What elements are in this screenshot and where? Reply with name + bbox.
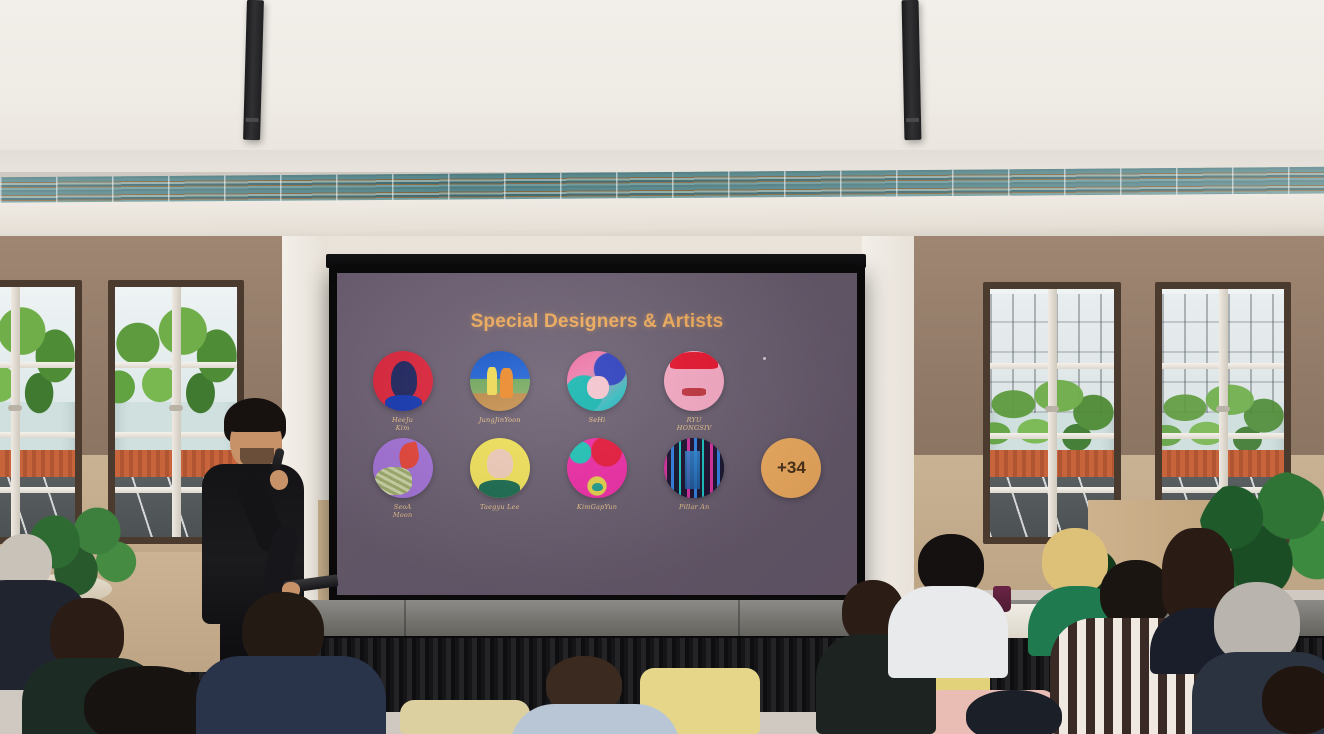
artist-avatar-pillar-an [664,438,724,498]
artist-name: Pillar An [679,503,709,511]
artist-cell[interactable]: Pillar An [659,438,730,519]
head [1262,666,1324,734]
pillar-right [862,236,914,636]
artist-avatar-seoa-moon [373,438,433,498]
artist-cell[interactable]: SeHi [561,351,632,432]
presenter-hair-front [226,406,284,432]
artist-cell[interactable]: HeeJu Kim [367,351,438,432]
presentation-room-photo: Special Designers & Artists HeeJu Kim Ju… [0,0,1324,734]
body [510,704,680,734]
artist-avatar-jungjinyoon [470,351,530,411]
artist-cell[interactable]: JungJinYoon [464,351,535,432]
artist-avatar-kimgapyun [567,438,627,498]
artist-name: HeeJu Kim [392,416,413,432]
artist-cell[interactable]: Taegyu Lee [464,438,535,519]
artist-name: SeoA Moon [393,503,412,519]
artist-cell-more[interactable]: +34 [756,438,827,519]
ceiling [0,0,1324,172]
artist-avatar-sehi [567,351,627,411]
projection-screen[interactable]: Special Designers & Artists HeeJu Kim Ju… [329,266,865,602]
artist-grid: HeeJu Kim JungJinYoon SeHi RYU HONGSIV [367,351,827,526]
artist-cell-spacer [756,351,827,432]
body [196,656,386,734]
artist-avatar-taegyu-lee [470,438,530,498]
artist-row: HeeJu Kim JungJinYoon SeHi RYU HONGSIV [367,351,827,432]
artist-cell[interactable]: RYU HONGSIV [659,351,730,432]
slide-title: Special Designers & Artists [337,311,857,333]
artist-name: JungJinYoon [479,416,521,424]
head [1042,528,1108,594]
chair [400,700,530,734]
ceiling-speaker-right-icon [902,0,922,140]
slide: Special Designers & Artists HeeJu Kim Ju… [337,273,857,595]
head [966,690,1062,734]
artist-name: SeHi [589,416,606,424]
body [888,586,1008,678]
head [84,666,214,734]
artist-cell[interactable]: KimGapYun [561,438,632,519]
artist-cell[interactable]: SeoA Moon [367,438,438,519]
artist-name: KimGapYun [577,503,617,511]
more-artists-badge: +34 [761,438,821,498]
artist-name: Taegyu Lee [480,503,520,511]
artist-avatar-heeju-kim [373,351,433,411]
artist-row: SeoA Moon Taegyu Lee KimGapYun Pillar An [367,438,827,519]
artist-avatar-ryu-hongsiv [664,351,724,411]
artist-name: RYU HONGSIV [677,416,712,432]
